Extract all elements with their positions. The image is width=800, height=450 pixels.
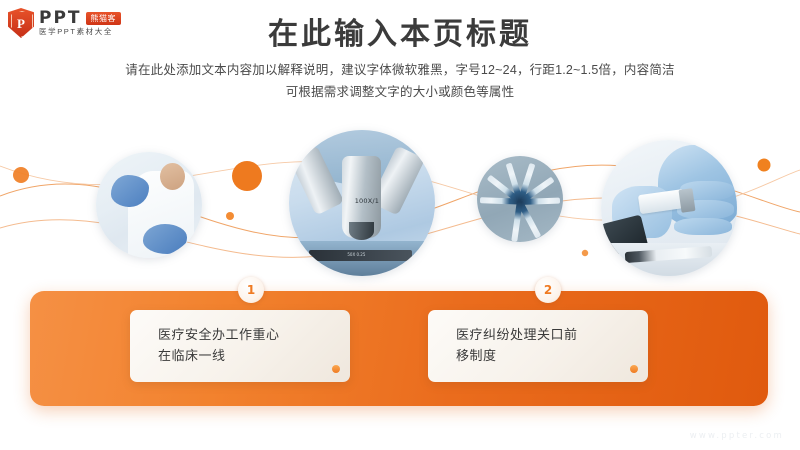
subtitle-line-1: 请在此处添加文本内容加以解释说明，建议字体微软雅黑，字号12~24，行距1.2~… <box>0 60 800 82</box>
card-knob-icon <box>332 365 340 373</box>
photo-gloved-hands-vial <box>601 140 737 276</box>
photo-microscope-objective-lens: 100X/1 50X 0.25 <box>289 130 435 276</box>
footer-url: www.ppter.com <box>690 431 784 441</box>
item-number-badge-2[interactable]: 2 <box>535 277 561 303</box>
content-card-2[interactable]: 医疗纠纷处理关口前 移制度 <box>428 310 648 382</box>
photo-lab-technician-blood-sample <box>96 152 202 258</box>
slide-canvas: P PPT 熊猫客 医学PPT素材大全 在此输入本页标题 请在此处添加文本内容加… <box>0 0 800 450</box>
page-subtitle: 请在此处添加文本内容加以解释说明，建议字体微软雅黑，字号12~24，行距1.2~… <box>0 60 800 104</box>
item-number-badge-1[interactable]: 1 <box>238 277 264 303</box>
content-card-1[interactable]: 医疗安全办工作重心 在临床一线 <box>130 310 350 382</box>
card-knob-icon <box>630 365 638 373</box>
page-title: 在此输入本页标题 <box>0 16 800 54</box>
content-card-2-text: 医疗纠纷处理关口前 移制度 <box>428 325 578 367</box>
microscope-slide-label: 50X 0.25 <box>347 252 365 257</box>
content-card-1-text: 医疗安全办工作重心 在临床一线 <box>130 325 280 367</box>
photo-syringes-radial <box>477 156 563 242</box>
microscope-magnification-label: 100X/1 <box>355 197 379 205</box>
subtitle-line-2: 可根据需求调整文字的大小或颜色等属性 <box>0 82 800 104</box>
